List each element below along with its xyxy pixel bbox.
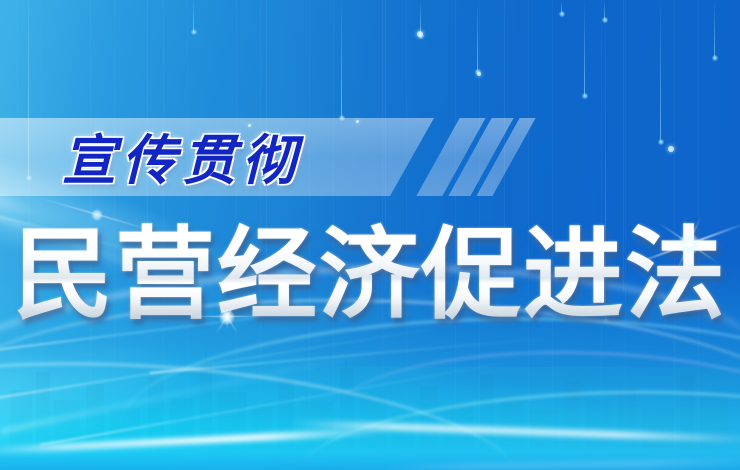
light-particle [193,0,194,32]
kicker-text: 宣传贯彻 [62,116,302,195]
light-particle [561,0,562,14]
main-title: 民营经济促进法 [0,222,740,330]
light-particle [584,0,585,96]
light-particle [660,0,661,142]
light-particle [341,0,342,118]
sparkle-dot [248,124,251,127]
sparkle-dot [356,120,359,123]
poster-banner: 宣传贯彻 民营经济促进法 民营经济促进法 [0,0,740,470]
bottom-deep-strip [0,440,740,470]
sparkle-dot [668,146,674,152]
sparkle-dot [417,31,423,37]
light-particle [477,0,478,72]
sparkle-dot [477,72,481,76]
kicker-banner-strip: 宣传贯彻 [0,118,520,196]
light-particle [714,0,715,58]
